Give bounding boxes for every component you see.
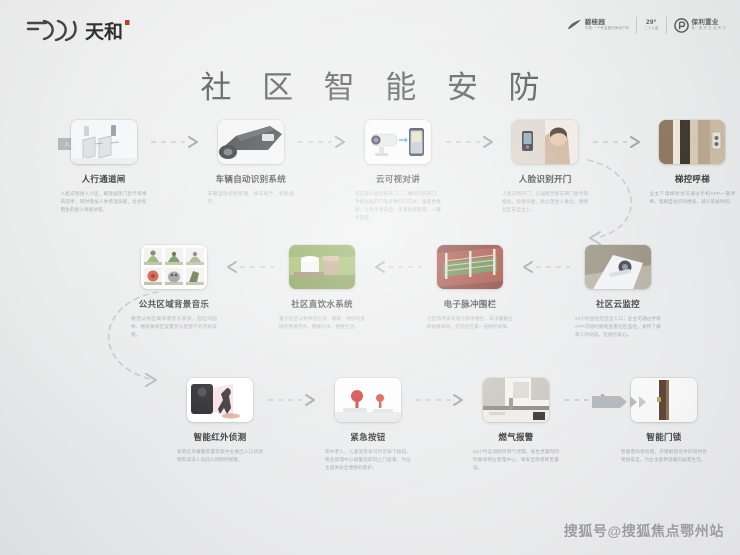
partner-1-sub: 中国·一个有温度的房地产商 — [585, 26, 629, 31]
node-desc: 安装红外报警装置在家中主要出入口侦测到有非法人员闯入时即时报警。 — [177, 448, 263, 464]
flow-node-cloud-intercom[interactable]: 云可视对讲 可实现人脸识别开门、二维码识别开门、手机远程开门等多种开门方式，居家… — [350, 120, 445, 222]
partner-logos: 碧桂园 中国·一个有温度的房地产商 29° 二十九度 保利置业 和 · 美 好 … — [567, 12, 726, 38]
flow-node-smart-lock[interactable]: 智能门锁 智能密码指纹锁，开锁解放双手的同时也更加安全，为业主提供温暖的居家生活… — [616, 378, 712, 464]
flow-node-vehicle-recognition[interactable]: 车辆自动识别系统 车辆自动识别管理，停车取卡，智能通行。 — [203, 120, 298, 206]
flow-node-elevator-control[interactable]: 梯控呼梯 业主下电梯时也可通过手机APP一键呼梯，电梯自动识别楼层，减少等候时间… — [645, 120, 740, 206]
connector-arrow — [416, 378, 468, 422]
cloud-surveillance-icon — [585, 245, 651, 289]
gas-alarm-icon — [483, 378, 549, 422]
node-desc: 可实现人脸识别开门、二维码识别开门、手机远程开门等多种开门方式，居家更便捷，让您… — [355, 190, 441, 222]
connector-arrow-left — [370, 245, 422, 289]
infrared-detector-icon — [187, 378, 253, 422]
node-label: 车辆自动识别系统 — [216, 173, 286, 185]
elevator-control-icon — [659, 120, 725, 164]
partner-mark-poly-icon — [674, 18, 689, 33]
connector-arrow — [151, 120, 203, 164]
brand-logo-tianhe-icon: 天和 — [22, 14, 152, 48]
flow-node-gas-alarm[interactable]: 燃气报警 24小时监测厨房燃气泄漏，发生泄漏时同时联动物业管理中心，将安全隐患降… — [468, 378, 564, 472]
node-label: 社区直饮水系统 — [291, 298, 353, 310]
background-music-icon — [141, 245, 207, 289]
license-plate-camera-icon — [218, 120, 284, 164]
emergency-button-icon — [335, 378, 401, 422]
flow-node-background-music[interactable]: 公共区域背景音乐 规范公共区域背景音乐系统，园区内园林、楼栋休闲区设置音乐配套户… — [126, 245, 222, 339]
watermark: 搜狐号@搜狐焦点鄂州站 — [564, 521, 724, 541]
node-desc: 社区周界安装电子脉冲围栏，非法翻越立即报警联动，打造社区第一道防护屏障。 — [427, 315, 513, 331]
node-label: 人脸识别开门 — [519, 173, 572, 185]
partner-logo-29: 29° 二十九度 — [644, 19, 658, 32]
cloud-intercom-camera-icon — [365, 120, 431, 164]
flow-node-emergency-button[interactable]: 紧急按钮 家中老人、儿童紧急状况时可按下按钮，物业管理中心接警后即刻上门查看，为… — [320, 378, 416, 472]
node-desc: 置于社区公共休息区域，健康、便快可直接饮用清洁水，健康饮水，便捷生活。 — [279, 315, 365, 331]
flow-row-2: 公共区域背景音乐 规范公共区域背景音乐系统，园区内园林、楼栋休闲区设置音乐配套户… — [0, 245, 740, 339]
partner-logo-poly: 保利置业 和 · 美 好 生 活 同 行 — [674, 18, 726, 33]
node-label: 燃气报警 — [498, 431, 533, 443]
flow-node-cloud-surveillance[interactable]: 社区云监控 24小时监控社区出入口，业主可通过手机APP可随时随地查看社区监控，… — [570, 245, 666, 339]
flow-node-face-recognition[interactable]: 人脸识别开门 人脸识别开门，让居民告别忘带门禁卡的尴尬，智能快捷，防止陌生人进出… — [498, 120, 593, 214]
node-desc: 人脸识别进入小区，解放居民门禁卡束缚的双手，同时增加人体感温知能，杜绝和陌生的进… — [61, 190, 147, 214]
node-label: 社区云监控 — [596, 298, 640, 310]
node-desc: 车辆自动识别管理，停车取卡，智能通行。 — [208, 190, 294, 206]
node-desc: 人脸识别开门，让居民告别忘带门禁卡的尴尬，智能快捷，防止陌生人进出，保障社区安全… — [502, 190, 588, 214]
node-label: 人行通道闸 — [82, 173, 126, 185]
end-arrow-icon — [592, 392, 654, 412]
partner-29-sub: 二十九度 — [644, 26, 658, 31]
flow-node-electronic-fence[interactable]: 电子脉冲围栏 社区周界安装电子脉冲围栏，非法翻越立即报警联动，打造社区第一道防护… — [422, 245, 518, 331]
flow-node-infrared-detector[interactable]: 智能红外侦测 安装红外报警装置在家中主要出入口侦测到有非法人员闯入时即时报警。 — [172, 378, 268, 464]
flow-end-arrow — [592, 392, 654, 412]
node-label: 电子脉冲围栏 — [444, 298, 497, 310]
partner-poly-sub: 和 · 美 好 生 活 同 行 — [692, 26, 726, 31]
drinking-water-system-icon — [289, 245, 355, 289]
node-desc: 家中老人、儿童紧急状况时可按下按钮，物业管理中心接警后即刻上门查看，为业主提供安… — [325, 448, 411, 472]
partner-divider-1 — [636, 17, 637, 34]
connector-arrow — [298, 120, 350, 164]
page-title: 社 区 智 能 安 防 — [0, 62, 740, 107]
poster-root: 天和 碧桂园 中国·一个有温度的房地产商 29° 二十九度 — [0, 0, 740, 555]
connector-arrow-left — [222, 245, 274, 289]
node-label: 智能红外侦测 — [194, 431, 247, 443]
connector-arrow — [446, 120, 498, 164]
node-label: 智能门锁 — [646, 431, 681, 443]
flow-node-turnstile[interactable]: 人行通道闸 人脸识别进入小区，解放居民门禁卡束缚的双手，同时增加人体感温知能，杜… — [56, 120, 151, 214]
node-desc: 业主下电梯时也可通过手机APP一键呼梯，电梯自动识别楼层，减少等候时间。 — [649, 190, 735, 206]
turnstile-gate-icon — [71, 120, 137, 164]
partner-mark-1-icon — [567, 18, 582, 33]
electronic-fence-icon — [437, 245, 503, 289]
node-label: 梯控呼梯 — [675, 173, 710, 185]
partner-logo-1: 碧桂园 中国·一个有温度的房地产商 — [567, 18, 629, 33]
flow-node-drinking-water[interactable]: 社区直饮水系统 置于社区公共休息区域，健康、便快可直接饮用清洁水，健康饮水，便捷… — [274, 245, 370, 331]
face-recognition-door-icon — [512, 120, 578, 164]
flow-row-1: 人行通道闸 人脸识别进入小区，解放居民门禁卡束缚的双手，同时增加人体感温知能，杜… — [0, 120, 740, 222]
connector-arrow — [593, 120, 645, 164]
node-desc: 24小时监控社区出入口，业主可通过手机APP可随时随地查看社区监控，关怀了解家人… — [575, 315, 661, 339]
node-label: 公共区域背景音乐 — [139, 298, 209, 310]
node-label: 紧急按钮 — [350, 431, 385, 443]
node-desc: 智能密码指纹锁，开锁解放双手的同时也更加安全，为业主提供温暖的居家生活。 — [621, 448, 707, 464]
node-desc: 规范公共区域背景音乐系统，园区内园林、楼栋休闲区设置音乐配套户外音响设施。 — [131, 315, 217, 339]
svg-text:天和: 天和 — [85, 20, 123, 43]
connector-arrow-left — [518, 245, 570, 289]
connector-arrow — [268, 378, 320, 422]
partner-divider-2 — [666, 17, 667, 34]
node-label: 云可视对讲 — [376, 173, 420, 185]
brand-logo: 天和 — [22, 14, 152, 48]
node-desc: 24小时监测厨房燃气泄漏，发生泄漏时同时联动物业管理中心，将安全隐患降至最低。 — [473, 448, 559, 472]
